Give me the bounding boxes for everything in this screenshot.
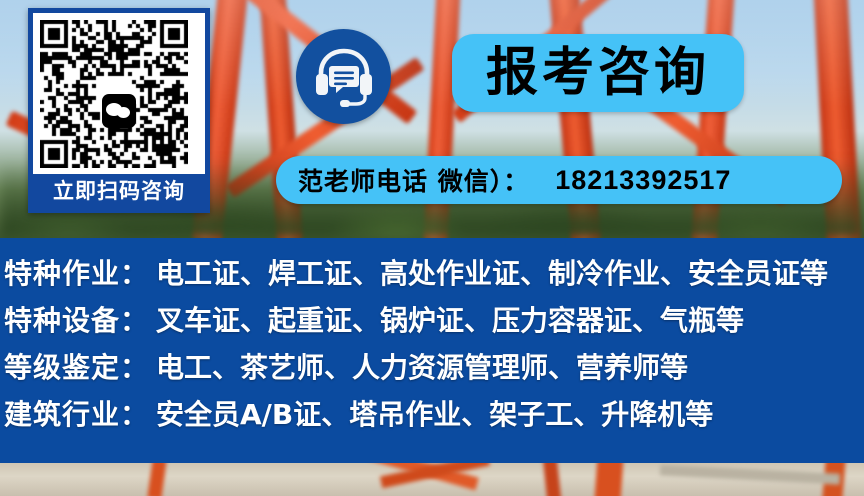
qr-code-card[interactable]: 立即扫码咨询 bbox=[28, 8, 210, 213]
service-category: 特种设备： bbox=[4, 299, 156, 339]
contact-phone-pill[interactable]: 范老师电话 微信）： 18213392517 bbox=[276, 156, 842, 204]
qr-code-frame bbox=[33, 13, 205, 174]
wechat-logo bbox=[102, 94, 136, 128]
title-pill: 报考咨询 bbox=[452, 34, 744, 112]
service-row: 特种设备： 叉车证、起重证、锅炉证、压力容器证、气瓶等 bbox=[0, 299, 864, 346]
service-row: 建筑行业： 安全员A/B证、塔吊作业、架子工、升降机等 bbox=[0, 393, 864, 440]
title-text: 报考咨询 bbox=[486, 47, 710, 99]
services-list: 特种作业： 电工证、焊工证、高处作业证、制冷作业、安全员证等 特种设备： 叉车证… bbox=[0, 238, 864, 463]
service-category: 特种作业： bbox=[4, 252, 156, 292]
service-items: 电工、茶艺师、人力资源管理师、营养师等 bbox=[156, 346, 688, 386]
service-items: 电工证、焊工证、高处作业证、制冷作业、安全员证等 bbox=[156, 252, 828, 292]
service-row: 特种作业： 电工证、焊工证、高处作业证、制冷作业、安全员证等 bbox=[0, 252, 864, 299]
service-category: 等级鉴定： bbox=[4, 346, 156, 386]
service-items: 叉车证、起重证、锅炉证、压力容器证、气瓶等 bbox=[156, 299, 744, 339]
background-photo-bottom bbox=[0, 463, 864, 496]
service-category: 建筑行业： bbox=[4, 393, 156, 433]
contact-label: 范老师电话 微信）： bbox=[298, 162, 529, 198]
phone-number[interactable]: 18213392517 bbox=[555, 165, 731, 196]
service-items: 安全员A/B证、塔吊作业、架子工、升降机等 bbox=[156, 393, 713, 433]
headset-glyph bbox=[314, 46, 374, 108]
service-row: 等级鉴定： 电工、茶艺师、人力资源管理师、营养师等 bbox=[0, 346, 864, 393]
headset-support-icon bbox=[296, 29, 391, 124]
advertisement-poster: 立即扫码咨询 报考咨询 范老师电话 微信）： 18213392517 特种作业： bbox=[0, 0, 864, 496]
qr-caption-label: 立即扫码咨询 bbox=[33, 174, 205, 208]
